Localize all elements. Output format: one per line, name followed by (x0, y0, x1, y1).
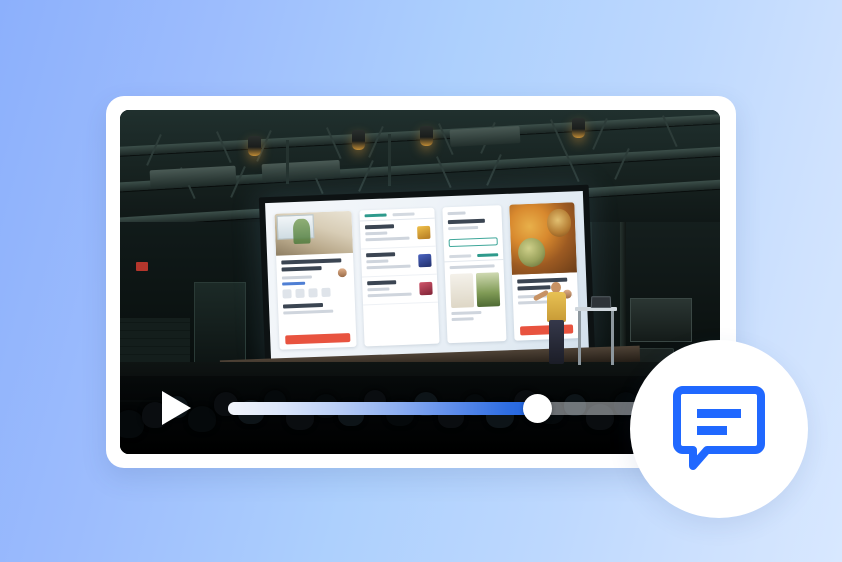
amenity-icon (282, 289, 291, 298)
reviewer-avatar (417, 226, 430, 239)
loft-link-line (282, 282, 306, 286)
review-body-line (366, 237, 410, 242)
page-root (0, 0, 842, 562)
tab-photos[interactable] (393, 212, 415, 216)
stage-light (248, 136, 261, 156)
amenity-icon (308, 288, 317, 297)
review-meta-line (365, 232, 387, 236)
reviewer-name-line (366, 252, 395, 257)
gallery-thumb (450, 273, 474, 308)
stage-light (352, 130, 365, 150)
presenter (542, 282, 576, 366)
tab-reviews[interactable] (365, 214, 387, 218)
reviewer-name-line (365, 224, 394, 229)
loft-title-line (281, 258, 341, 264)
play-button[interactable] (162, 391, 191, 425)
loft-section-line (283, 303, 323, 309)
loft-meta-line (282, 275, 312, 279)
amenity-icon (295, 289, 304, 298)
loft-photo (274, 211, 353, 256)
restaurant-photo (510, 202, 577, 274)
loft-title-line (282, 266, 322, 272)
projected-slide (265, 191, 589, 361)
stage-door (194, 282, 246, 368)
presenter-laptop (591, 296, 612, 308)
podium-leg (578, 311, 581, 365)
amenity-icon (321, 288, 330, 297)
la-gallery (445, 272, 505, 308)
review-row (360, 219, 436, 250)
loft-body-line (283, 310, 333, 315)
la-caption-line (452, 311, 482, 315)
ceiling-duct (450, 126, 521, 147)
progress-handle[interactable] (523, 394, 552, 423)
presenter-legs (549, 320, 564, 364)
review-meta-line (366, 259, 388, 263)
la-body-line (450, 264, 494, 269)
pipe-drop (388, 134, 391, 186)
slide-card-los-angeles (443, 205, 507, 343)
review-body-line (367, 265, 411, 270)
reviewer-avatar (418, 254, 431, 267)
review-meta-line (367, 287, 389, 291)
podium (575, 307, 617, 365)
review-row (362, 275, 438, 306)
la-caption-line (452, 317, 474, 321)
reviewer-avatar (420, 282, 433, 295)
la-breadcrumb-line (448, 211, 465, 215)
review-row (361, 247, 437, 278)
loft-amenity-icons (282, 287, 349, 299)
la-subtitle-line (448, 226, 478, 230)
chat-bubble-badge[interactable] (630, 340, 808, 518)
slide-card-reviews (359, 208, 439, 347)
reviewer-name-line (367, 280, 396, 285)
chat-bubble-icon (673, 386, 765, 472)
presenter-torso (547, 292, 566, 322)
truss-web (486, 154, 502, 186)
loft-book-button[interactable] (285, 333, 350, 344)
equipment-rack (630, 298, 692, 342)
podium-leg (611, 311, 614, 365)
pipe-drop (286, 140, 289, 184)
gallery-thumb (476, 272, 500, 307)
la-title-line (448, 219, 485, 224)
stage-light (572, 118, 585, 138)
review-body-line (368, 293, 412, 298)
stage-light (420, 126, 433, 146)
slide-card-loft (274, 211, 356, 350)
la-tab[interactable] (450, 254, 472, 258)
video-frame[interactable] (120, 110, 720, 454)
la-explore-button[interactable] (449, 237, 498, 247)
progress-fill (228, 402, 538, 415)
exit-sign-icon (136, 262, 148, 271)
la-tab-active[interactable] (477, 253, 499, 257)
